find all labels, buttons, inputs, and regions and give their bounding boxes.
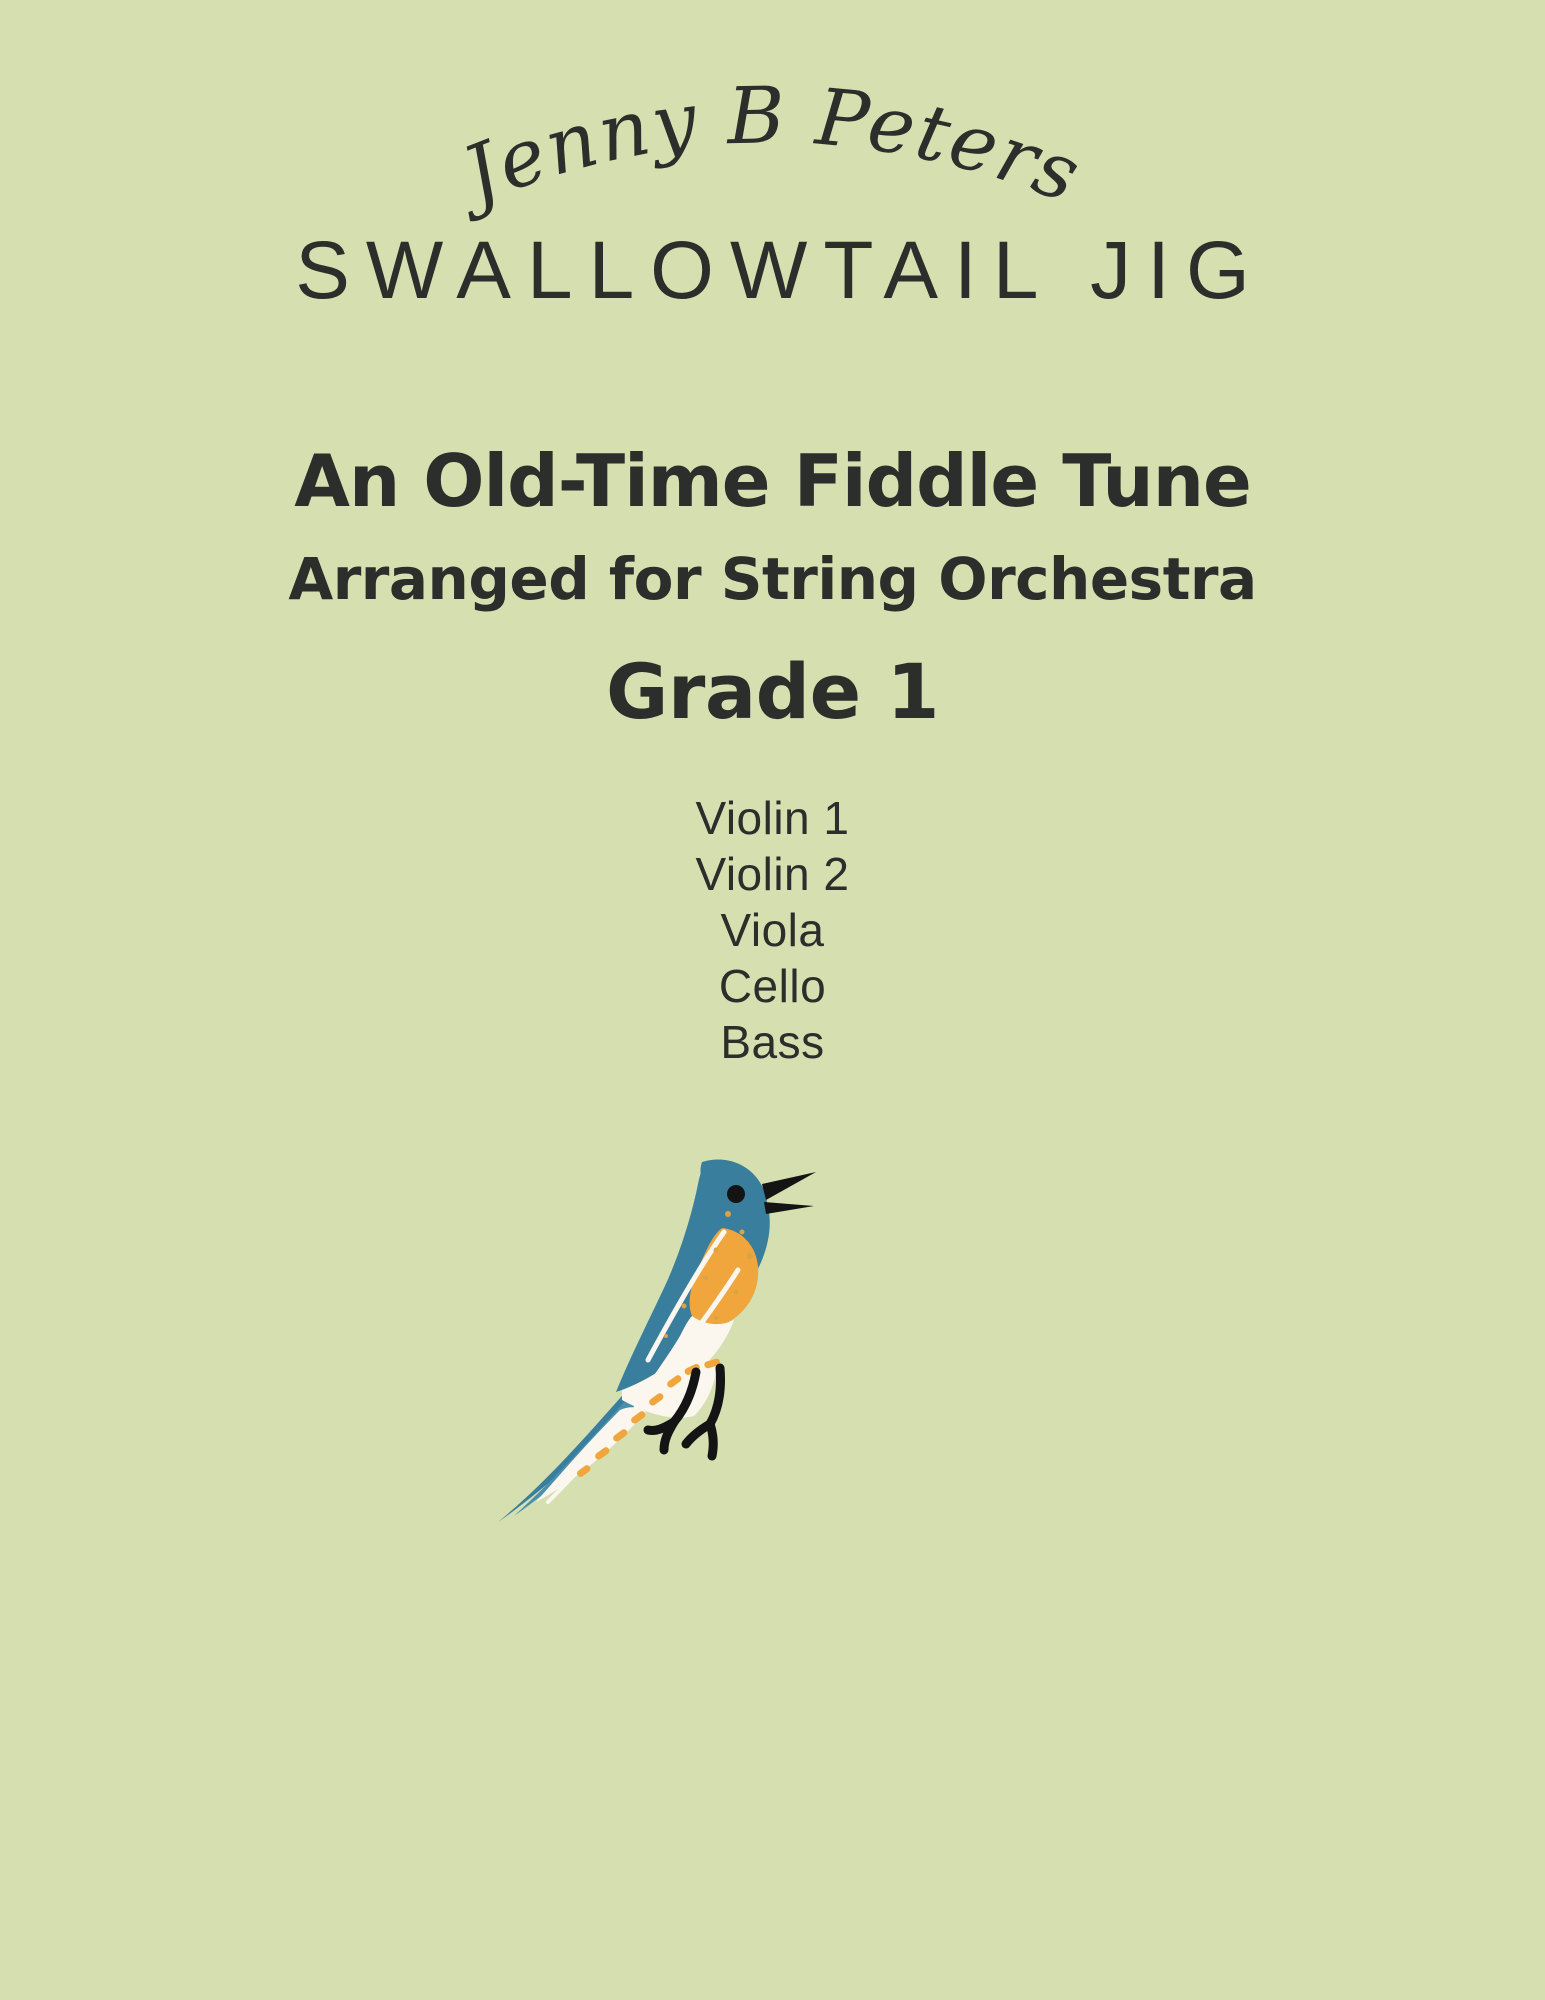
list-item: Bass: [0, 1014, 1545, 1070]
instrumentation-list: Violin 1 Violin 2 Viola Cello Bass: [0, 790, 1545, 1071]
composer-name-arc: Jenny B Peters: [0, 40, 1545, 230]
subtitle-arrangement: Arranged for String Orchestra: [0, 545, 1545, 615]
list-item: Cello: [0, 958, 1545, 1014]
composer-name-text: Jenny B Peters: [438, 71, 1093, 226]
grade-level: Grade 1: [0, 646, 1545, 737]
subtitle-tune-description: An Old-Time Fiddle Tune: [0, 440, 1545, 523]
page-title: SWALLOWTAIL JIG: [0, 228, 1545, 314]
list-item: Violin 1: [0, 790, 1545, 846]
list-item: Violin 2: [0, 846, 1545, 902]
cover-page: Jenny B Peters SWALLOWTAIL JIG An Old-Ti…: [0, 0, 1545, 2000]
list-item: Viola: [0, 902, 1545, 958]
bluebird-icon: [470, 1110, 850, 1530]
subtitle-block: An Old-Time Fiddle Tune Arranged for Str…: [0, 440, 1545, 738]
